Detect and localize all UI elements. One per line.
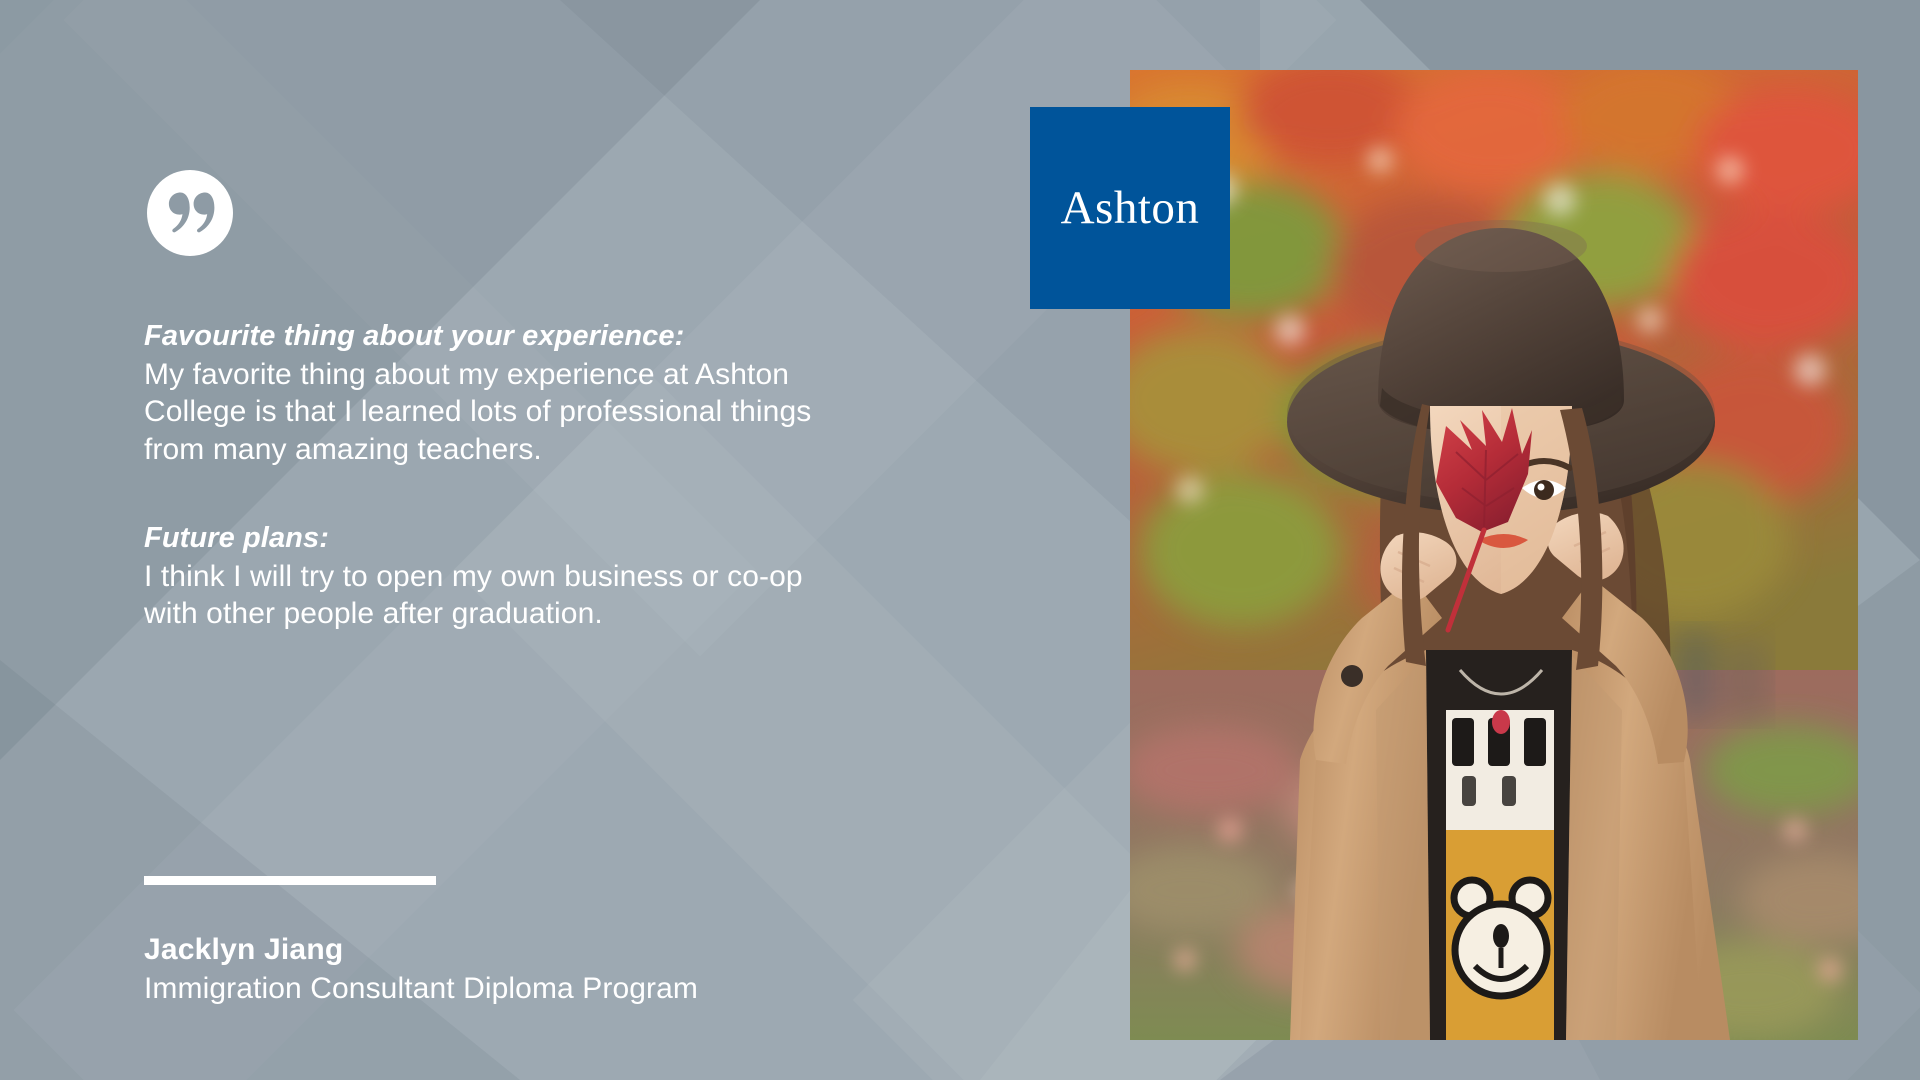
logo-wordmark: Ashton xyxy=(1061,185,1200,232)
question-label-future-plans: Future plans: xyxy=(144,520,1024,558)
student-name: Jacklyn Jiang xyxy=(144,930,698,969)
student-photo xyxy=(1130,70,1858,1040)
answer-line: with other people after graduation. xyxy=(144,595,1024,633)
testimonial-slide: Favourite thing about your experience: M… xyxy=(0,0,1920,1080)
ashton-logo: Ashton xyxy=(1030,107,1230,309)
answer-line: from many amazing teachers. xyxy=(144,431,1024,469)
quotation-mark-icon xyxy=(147,170,233,256)
student-program: Immigration Consultant Diploma Program xyxy=(144,969,698,1008)
answer-line: I think I will try to open my own busine… xyxy=(144,558,1024,596)
answer-line: My favorite thing about my experience at… xyxy=(144,356,1024,394)
attribution-block: Jacklyn Jiang Immigration Consultant Dip… xyxy=(144,930,698,1008)
question-label-favourite: Favourite thing about your experience: xyxy=(144,318,1024,356)
attribution-divider xyxy=(144,876,436,885)
answer-line: College is that I learned lots of profes… xyxy=(144,393,1024,431)
testimonial-text: Favourite thing about your experience: M… xyxy=(144,318,1024,633)
paragraph-spacer xyxy=(144,468,1024,520)
